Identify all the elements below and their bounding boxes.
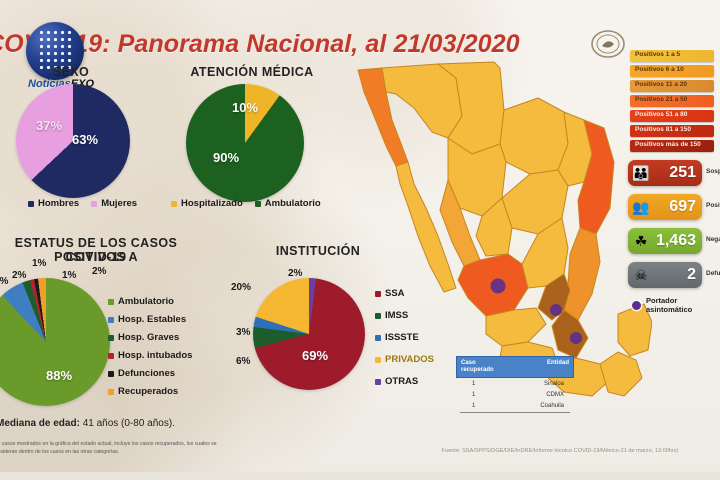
legend-swatch-icon [108, 353, 114, 359]
stat-value: 697 [654, 198, 702, 216]
estatus-leader-6: 6% [0, 276, 8, 287]
band-1-5: Positivos 1 a 5 [630, 50, 714, 62]
crowd-icon: 👥 [628, 200, 654, 214]
institucion-leader-otras: 2% [288, 268, 302, 279]
atencion-legend: Hospitalizado Ambulatorio [171, 198, 321, 209]
estatus-chart-title-line2: COVID-19 [0, 250, 206, 264]
band-label: Positivos 6 a 10 [635, 66, 684, 73]
band-6-10: Positivos 6 a 10 [630, 65, 714, 77]
estatus-leader-1b: 1% [62, 270, 76, 281]
stat-label-defunciones: Defunciones [706, 270, 720, 277]
legend-swatch-icon [108, 299, 114, 305]
legend-label: Defunciones [118, 368, 175, 379]
table-row: 1 Sinaloa [456, 378, 574, 389]
table-cell-entity: CDMX [546, 392, 564, 398]
state-chiapas [600, 352, 642, 396]
band-81-150: Positivos 81 a 150 [630, 125, 714, 137]
carrier-dot-icon [632, 301, 641, 310]
table-header-row: Caso recuperado Entidad [456, 356, 574, 378]
stat-label-sospechosos: Sospechosos [706, 168, 720, 175]
sexo-value-mujeres: 37% [36, 118, 62, 133]
table-cell-entity: Coahuila [540, 403, 564, 409]
legend-swatch-icon [108, 371, 114, 377]
stat-sospechosos: 👪 251 [628, 160, 702, 186]
institucion-leader-privados: 20% [231, 282, 251, 293]
median-age-value: 41 años (0-80 años). [83, 418, 175, 429]
table-header-entidad: Entidad [547, 360, 569, 374]
table-cell-count: 1 [472, 381, 475, 387]
table-row: 1 Coahuila [456, 400, 574, 411]
estatus-value-ambulatorio: 88% [46, 368, 72, 383]
carrier-label-line2: asintomático [646, 305, 692, 314]
table-cell-count: 1 [472, 403, 475, 409]
carrier-legend: Portador asintomático [632, 296, 692, 315]
stat-defunciones: ☠ 2 [628, 262, 702, 288]
state-veracruz [564, 228, 600, 320]
legend-swatch-icon [108, 389, 114, 395]
sexo-legend: Hombres Mujeres [28, 198, 137, 209]
legend-label: Recuperados [118, 386, 178, 397]
legend-label: Hosp. Graves [118, 332, 179, 343]
institucion-pie-chart [253, 278, 365, 390]
stat-value: 2 [654, 266, 702, 284]
stat-negativos: ☘ 1,463 [628, 228, 702, 254]
carrier-label-line1: Portador [646, 296, 677, 305]
recovered-cases-table: Caso recuperado Entidad 1 Sinaloa 1 CDMX… [456, 356, 574, 413]
band-51-80: Positivos 51 a 80 [630, 110, 714, 122]
legend-item-mujeres: Mujeres [91, 198, 137, 209]
legend-label: Hombres [38, 198, 79, 209]
sexo-chart-title: SEXO [0, 65, 146, 79]
legend-swatch-icon [108, 317, 114, 323]
carrier-dot-icon [550, 304, 562, 316]
national-seal-icon [586, 28, 630, 62]
legend-label: Hosp. Estables [118, 314, 186, 325]
legend-label: Hosp. intubados [118, 350, 192, 361]
people-icon: 👪 [628, 166, 654, 180]
legend-item-recuperados: Recuperados [108, 386, 178, 397]
band-label: Positivos 11 a 20 [635, 81, 687, 88]
legend-swatch-icon [171, 201, 177, 207]
stat-value: 251 [654, 164, 702, 182]
band-label: Positivos 1 a 5 [635, 51, 680, 58]
legend-label: Ambulatorio [118, 296, 174, 307]
table-header-caso-line2: recuperado [461, 367, 494, 373]
table-cell-count: 1 [472, 392, 475, 398]
band-label: Positivos 81 a 150 [635, 126, 691, 133]
atencion-value-ambulatorio: 90% [213, 150, 239, 165]
legend-item-ambulatorio: Ambulatorio [255, 198, 321, 209]
legend-label: Ambulatorio [265, 198, 321, 209]
table-bottom-rule [460, 412, 570, 413]
carrier-dot-icon [491, 279, 506, 294]
legend-item-hosp-intubados: Hosp. intubados [108, 350, 192, 361]
band-label: Positivos más de 150 [635, 141, 701, 148]
band-label: Positivos 51 a 80 [635, 111, 687, 118]
estatus-legend: Ambulatorio Hosp. Estables Hosp. Graves … [108, 296, 192, 397]
stat-label-negativos: Negativos [706, 236, 720, 243]
median-age-note: Mediana de edad: 41 años (0-80 años). [0, 418, 175, 429]
legend-item-hosp-graves: Hosp. Graves [108, 332, 179, 343]
legend-swatch-icon [28, 201, 34, 207]
legend-item-hombres: Hombres [28, 198, 79, 209]
band-over-150: Positivos más de 150 [630, 140, 714, 152]
source-credit: Fuente: SSA/SPPS/DGE/DIE/InDRE/Informe t… [400, 447, 720, 455]
stat-positivos: 👥 697 [628, 194, 702, 220]
table-row: 1 CDMX [456, 389, 574, 400]
table-header-caso: Caso recuperado [461, 360, 494, 374]
slide-canvas: COVID-19: Panorama Nacional, al 21/03/20… [0, 0, 720, 480]
fine-print-note: Los casos mostrados en la gráfica del es… [0, 441, 242, 457]
atencion-value-hospitalizado: 10% [232, 100, 258, 115]
stat-value: 1,463 [654, 232, 702, 250]
estatus-leader-2a: 2% [12, 270, 26, 281]
legend-item-hosp-estables: Hosp. Estables [108, 314, 186, 325]
legend-swatch-icon [108, 335, 114, 341]
institucion-value-ssa: 69% [302, 348, 328, 363]
legend-item-ambulatorio: Ambulatorio [108, 296, 174, 307]
skull-icon: ☠ [628, 268, 654, 282]
institucion-leader-issste: 3% [236, 327, 250, 338]
legend-item-hospitalizado: Hospitalizado [171, 198, 243, 209]
legend-label: Mujeres [101, 198, 137, 209]
stat-label-positivos: Positivos [706, 202, 720, 209]
legend-swatch-icon [91, 201, 97, 207]
band-11-20: Positivos 11 a 20 [630, 80, 714, 92]
sexo-value-hombres: 63% [72, 132, 98, 147]
band-label: Positivos 21 a 50 [635, 96, 687, 103]
median-age-label: Mediana de edad: [0, 418, 80, 429]
table-header-caso-line1: Caso [461, 360, 476, 366]
virus-icon: ☘ [628, 234, 654, 248]
state-coahuila [500, 98, 568, 174]
state-puebla [552, 310, 588, 358]
map-color-scale-legend: Positivos 1 a 5 Positivos 6 a 10 Positiv… [630, 50, 714, 155]
estatus-leader-1a: 1% [32, 258, 46, 269]
carrier-dot-icon [570, 332, 582, 344]
estatus-leader-2b: 2% [92, 266, 106, 277]
bottom-bar [0, 472, 720, 480]
estatus-pie-chart [0, 278, 110, 406]
table-cell-entity: Sinaloa [544, 381, 564, 387]
legend-label: Hospitalizado [181, 198, 243, 209]
state-michoacan [486, 308, 546, 346]
band-21-50: Positivos 21 a 50 [630, 95, 714, 107]
atencion-chart-title: ATENCIÓN MÉDICA [172, 65, 332, 79]
legend-swatch-icon [255, 201, 261, 207]
legend-item-defunciones: Defunciones [108, 368, 175, 379]
institucion-leader-imss: 6% [236, 356, 250, 367]
